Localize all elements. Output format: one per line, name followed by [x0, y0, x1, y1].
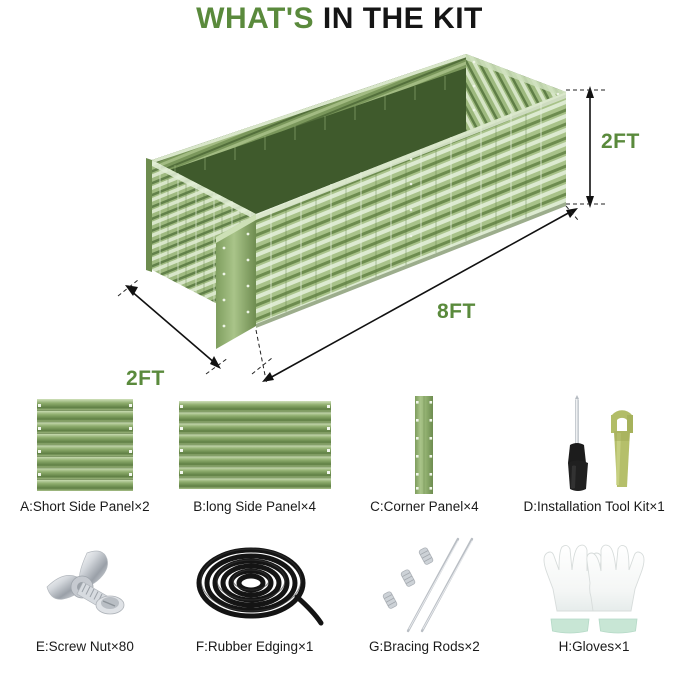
- part-label-f: F:Rubber Edging×1: [196, 639, 313, 654]
- part-label-c: C:Corner Panel×4: [370, 499, 478, 514]
- part-item-a: A:Short Side Panel×2: [0, 392, 170, 532]
- glove-right: [587, 545, 644, 633]
- parts-list: A:Short Side Panel×2: [0, 392, 679, 673]
- part-item-e: E:Screw Nut×80: [0, 532, 170, 672]
- part-label-d: D:Installation Tool Kit×1: [524, 499, 665, 514]
- part-item-f: F:Rubber Edging×1: [170, 532, 340, 672]
- parts-row-1: A:Short Side Panel×2: [0, 392, 679, 532]
- dimension-label-depth: 2FT: [126, 367, 165, 391]
- screw-nut-icon: [0, 532, 170, 637]
- rubber-edging-icon: [170, 532, 340, 637]
- screwdriver-glyph: [568, 395, 588, 491]
- bracing-rods-icon: [340, 532, 510, 637]
- front-corner-post: [216, 214, 256, 349]
- rear-corner-post: [146, 158, 152, 272]
- page-title-rest: IN THE KIT: [323, 2, 483, 35]
- short-side-panel-icon: [0, 392, 170, 497]
- dimension-label-length: 8FT: [437, 300, 476, 324]
- part-label-e: E:Screw Nut×80: [36, 639, 134, 654]
- part-item-d: D:Installation Tool Kit×1: [509, 392, 679, 532]
- installation-tool-kit-icon: [509, 392, 679, 497]
- corner-panel-icon: [340, 392, 510, 497]
- part-label-b: B:long Side Panel×4: [193, 499, 316, 514]
- gloves-icon: [509, 532, 679, 637]
- raised-garden-bed-illustration: 2FT 8FT 2FT: [0, 34, 679, 384]
- page-title-highlight: WHAT'S: [196, 2, 314, 35]
- part-label-g: G:Bracing Rods×2: [369, 639, 480, 654]
- part-item-b: B:long Side Panel×4: [170, 392, 340, 532]
- long-side-panel-icon: [170, 392, 340, 497]
- part-item-g: G:Bracing Rods×2: [340, 532, 510, 672]
- part-label-a: A:Short Side Panel×2: [20, 499, 149, 514]
- parts-row-2: E:Screw Nut×80: [0, 532, 679, 672]
- dimension-label-height: 2FT: [601, 130, 640, 154]
- page-title: WHAT'S IN THE KIT: [0, 2, 679, 36]
- part-label-h: H:Gloves×1: [559, 639, 630, 654]
- dimension-height: [566, 86, 606, 208]
- wrench-glyph: [611, 410, 633, 487]
- part-item-c: C:Corner Panel×4: [340, 392, 510, 532]
- part-item-h: H:Gloves×1: [509, 532, 679, 672]
